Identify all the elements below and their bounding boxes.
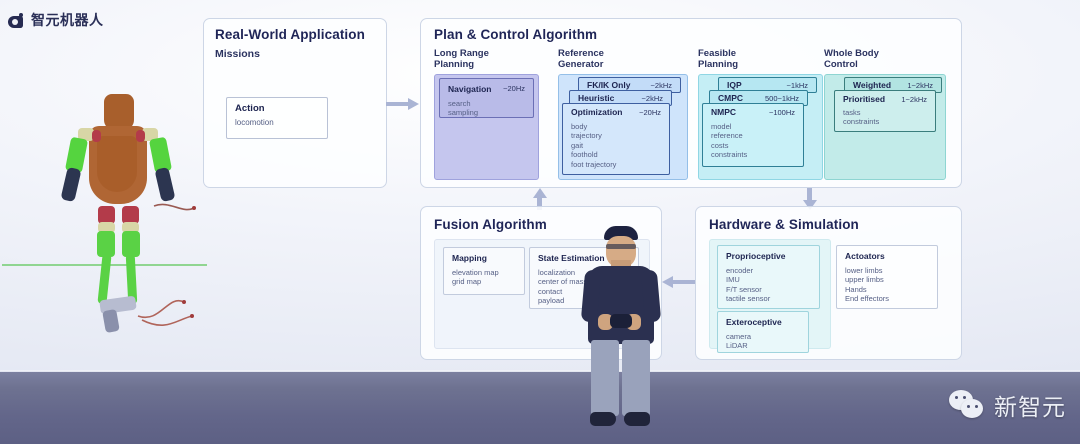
card-fk-ik-only-hz: ~2kHz xyxy=(651,81,672,90)
panel-title-fusion: Fusion Algorithm xyxy=(434,217,547,232)
card-proprioceptive-items: encoder IMU F/T sensor tactile sensor xyxy=(726,266,770,304)
list-item: F/T sensor xyxy=(726,285,770,294)
card-weighted-title: Weighted xyxy=(853,80,891,90)
list-item: locomotion xyxy=(235,118,274,128)
list-item: gait xyxy=(571,141,616,150)
list-item: tasks xyxy=(843,108,879,117)
list-item: elevation map xyxy=(452,268,499,277)
column-head-long-range-planning: Long Range Planning xyxy=(434,49,489,70)
card-iqp-title: IQP xyxy=(727,80,742,90)
card-mapping: Mapping elevation map grid map xyxy=(443,247,525,295)
card-nmpc-hz: ~100Hz xyxy=(769,108,795,117)
list-item: foot trajectory xyxy=(571,160,616,169)
list-item: reference xyxy=(711,131,747,140)
column-head-whole-body-control: Whole Body Control xyxy=(824,49,879,70)
card-optimization-items: body trajectory gait foothold foot traje… xyxy=(571,122,616,169)
list-item: upper limbs xyxy=(845,275,889,284)
list-item: camera xyxy=(726,332,751,341)
card-prioritised-hz: 1~2kHz xyxy=(901,95,927,104)
card-proprioceptive-title: Proprioceptive xyxy=(726,251,786,261)
card-fk-ik-only-title: FK/IK Only xyxy=(587,80,630,90)
panel-hardware-simulation: Hardware & Simulation Proprioceptive enc… xyxy=(695,206,962,360)
list-item: model xyxy=(711,122,747,131)
column-head-feasible-planning: Feasible Planning xyxy=(698,49,738,70)
list-item: body xyxy=(571,122,616,131)
list-item: constraints xyxy=(711,150,747,159)
card-proprioceptive: Proprioceptive encoder IMU F/T sensor ta… xyxy=(717,245,820,309)
card-navigation: Navigation ~20Hz search sampling xyxy=(439,78,534,118)
panel-title-plan-control: Plan & Control Algorithm xyxy=(434,27,597,42)
card-optimization: Optimization ~20Hz body trajectory gait … xyxy=(562,103,670,175)
card-weighted-hz: 1~2kHz xyxy=(907,81,933,90)
card-prioritised-items: tasks constraints xyxy=(843,108,879,127)
card-cmpc-hz: 500~1kHz xyxy=(765,94,799,103)
channel-watermark: 新智元 xyxy=(949,388,1066,422)
card-prioritised: Prioritised 1~2kHz tasks constraints xyxy=(834,90,936,132)
list-item: End effectors xyxy=(845,294,889,303)
card-optimization-title: Optimization xyxy=(571,107,622,117)
card-heuristic-hz: ~2kHz xyxy=(642,94,663,103)
list-item: search xyxy=(448,99,478,108)
list-item: constraints xyxy=(843,117,879,126)
list-item: grid map xyxy=(452,277,499,286)
presentation-slide: Real-World Application Missions Action l… xyxy=(0,0,980,372)
card-exteroceptive: Exteroceptive camera LiDAR xyxy=(717,311,809,353)
card-navigation-items: search sampling xyxy=(448,99,478,118)
panel-plan-control-algorithm: Plan & Control Algorithm Long Range Plan… xyxy=(420,18,962,188)
list-item: IMU xyxy=(726,275,770,284)
panel-real-world-application: Real-World Application Missions Action l… xyxy=(203,18,387,188)
section-label-missions: Missions xyxy=(215,48,260,60)
card-navigation-hz: ~20Hz xyxy=(503,84,525,93)
card-optimization-hz: ~20Hz xyxy=(639,108,661,117)
card-action: Action locomotion xyxy=(226,97,328,139)
card-heuristic-title: Heuristic xyxy=(578,93,614,103)
list-item: trajectory xyxy=(571,131,616,140)
card-nmpc: NMPC ~100Hz model reference costs constr… xyxy=(702,103,804,167)
list-item: tactile sensor xyxy=(726,294,770,303)
card-exteroceptive-title: Exteroceptive xyxy=(726,317,782,327)
list-item: encoder xyxy=(726,266,770,275)
card-exteroceptive-items: camera LiDAR xyxy=(726,332,751,351)
list-item: Hands xyxy=(845,285,889,294)
card-actoators: Actoators lower limbs upper limbs Hands … xyxy=(836,245,938,309)
card-action-title: Action xyxy=(235,103,265,114)
card-action-items: locomotion xyxy=(235,118,274,128)
list-item: sampling xyxy=(448,108,478,117)
presenter-person xyxy=(578,226,664,444)
card-iqp-hz: ~1kHz xyxy=(787,81,808,90)
stage-floor xyxy=(0,372,1080,444)
list-item: foothold xyxy=(571,150,616,159)
card-nmpc-items: model reference costs constraints xyxy=(711,122,747,160)
arrow-realworld-to-plan xyxy=(386,98,420,110)
card-prioritised-title: Prioritised xyxy=(843,94,885,104)
card-nmpc-title: NMPC xyxy=(711,107,736,117)
panel-title-hardware: Hardware & Simulation xyxy=(709,217,859,232)
card-mapping-items: elevation map grid map xyxy=(452,268,499,287)
card-mapping-title: Mapping xyxy=(452,253,487,263)
arrow-hardware-to-fusion xyxy=(662,276,695,288)
watermark-text: 新智元 xyxy=(994,388,1066,422)
card-navigation-title: Navigation xyxy=(448,84,491,94)
card-actoators-items: lower limbs upper limbs Hands End effect… xyxy=(845,266,889,304)
wechat-icon xyxy=(949,390,987,420)
list-item: costs xyxy=(711,141,747,150)
column-head-reference-generator: Reference Generator xyxy=(558,49,604,70)
list-item: lower limbs xyxy=(845,266,889,275)
list-item: LiDAR xyxy=(726,341,751,350)
panel-title-real-world: Real-World Application xyxy=(215,27,365,42)
card-cmpc-title: CMPC xyxy=(718,93,743,103)
card-actoators-title: Actoators xyxy=(845,251,885,261)
